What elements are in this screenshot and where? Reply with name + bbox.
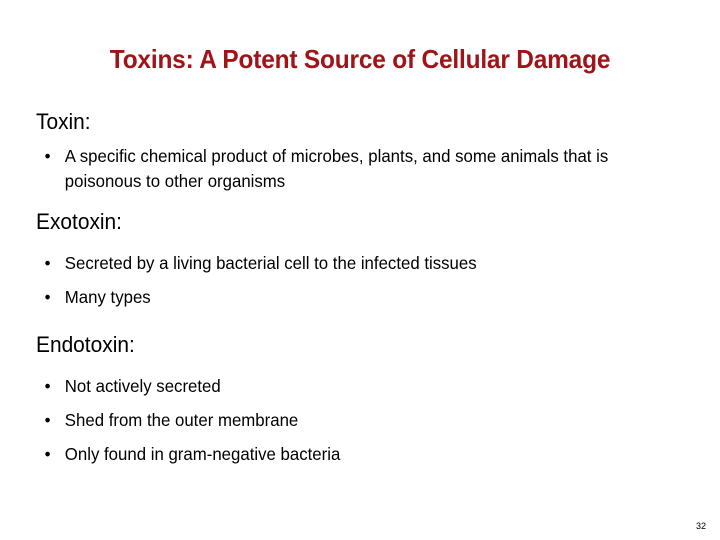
bullet-icon: • [45, 369, 51, 403]
list-item: • Secreted by a living bacterial cell to… [36, 246, 666, 280]
list-item-text: Secreted by a living bacterial cell to t… [65, 253, 477, 273]
bullet-list-exotoxin: • Secreted by a living bacterial cell to… [36, 246, 692, 314]
slide-body: Toxin: • A specific chemical product of … [36, 108, 692, 471]
list-item: • Shed from the outer membrane [36, 403, 666, 437]
presentation-slide: Toxins: A Potent Source of Cellular Dama… [0, 0, 720, 540]
bullet-icon: • [45, 246, 51, 280]
section-endotoxin: Endotoxin: • Not actively secreted • She… [36, 331, 692, 471]
section-heading-endotoxin: Endotoxin: [36, 331, 659, 359]
bullet-icon: • [45, 403, 51, 437]
section-heading-toxin: Toxin: [36, 108, 659, 136]
bullet-icon: • [45, 437, 51, 471]
bullet-list-toxin: • A specific chemical product of microbe… [36, 144, 692, 194]
bullet-list-endotoxin: • Not actively secreted • Shed from the … [36, 369, 692, 471]
section-toxin: Toxin: • A specific chemical product of … [36, 108, 692, 194]
list-item: • Only found in gram-negative bacteria [36, 437, 666, 471]
list-item-text: Many types [65, 287, 151, 307]
list-item: • Many types [36, 280, 666, 314]
page-number: 32 [696, 520, 706, 532]
list-item-text: Only found in gram-negative bacteria [65, 444, 340, 464]
list-item-text: Shed from the outer membrane [65, 410, 298, 430]
section-heading-exotoxin: Exotoxin: [36, 208, 659, 236]
section-exotoxin: Exotoxin: • Secreted by a living bacteri… [36, 208, 692, 314]
list-item: • A specific chemical product of microbe… [36, 144, 666, 194]
list-item-text: A specific chemical product of microbes,… [65, 146, 608, 191]
bullet-icon: • [45, 144, 51, 169]
bullet-icon: • [45, 280, 51, 314]
slide-title: Toxins: A Potent Source of Cellular Dama… [50, 45, 670, 75]
list-item-text: Not actively secreted [65, 376, 221, 396]
list-item: • Not actively secreted [36, 369, 666, 403]
